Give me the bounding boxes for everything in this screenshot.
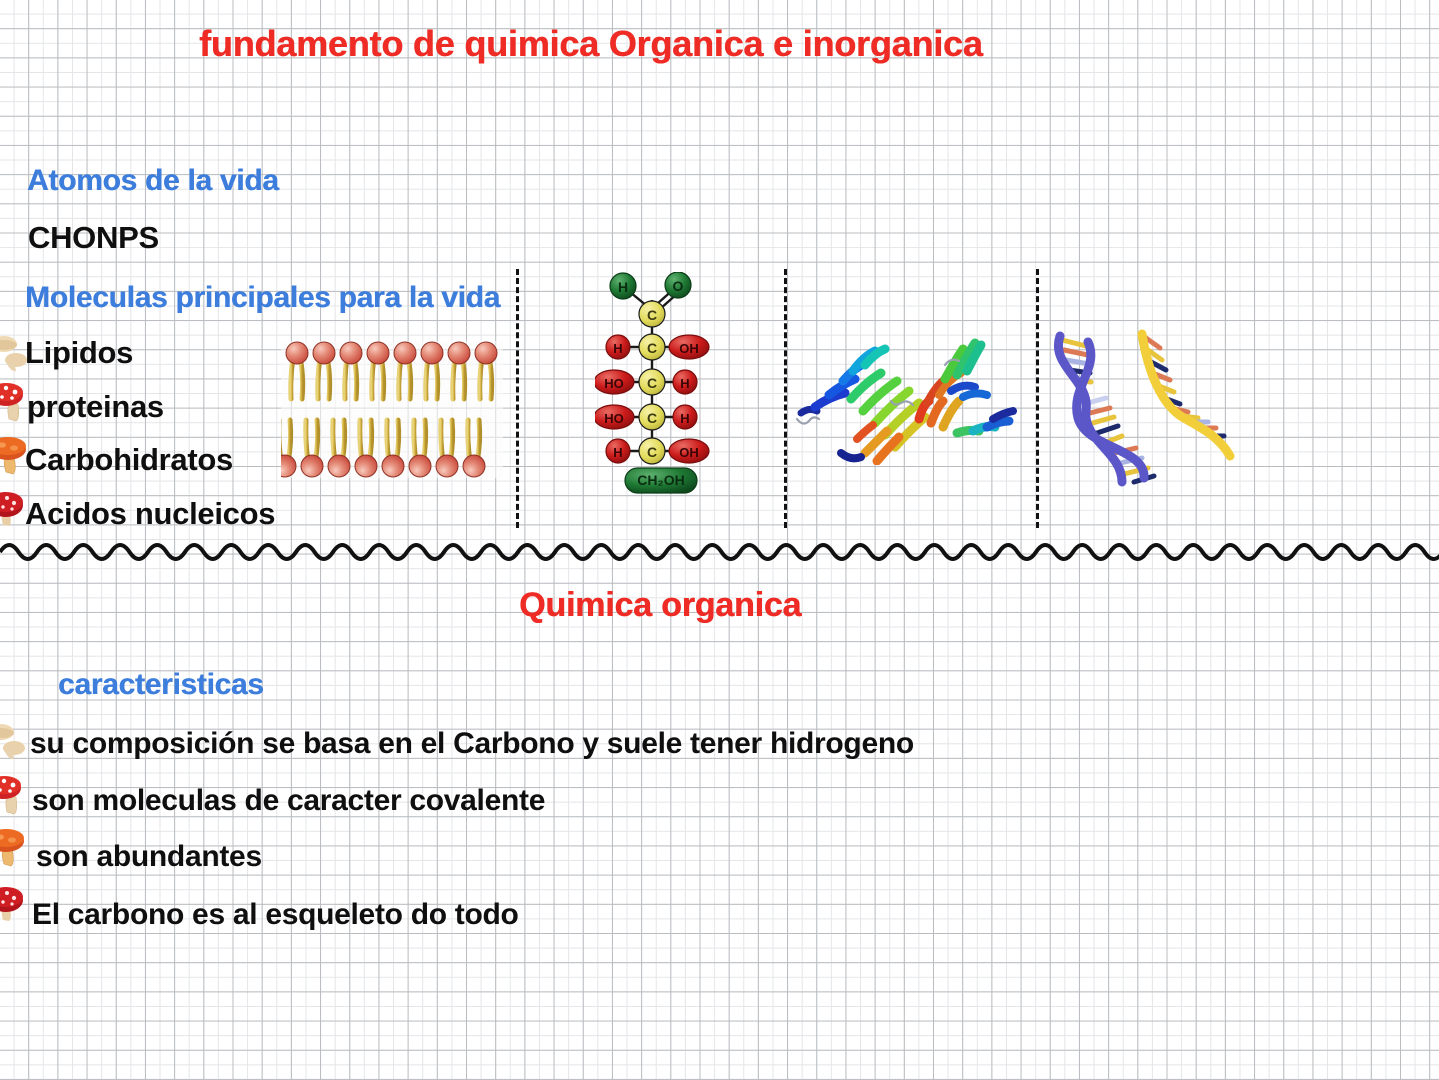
mushroom-bullet-icon bbox=[0, 489, 22, 529]
mushroom-bullet-icon bbox=[0, 826, 22, 866]
svg-text:HO: HO bbox=[604, 411, 624, 426]
dna-rna-illustration bbox=[1044, 318, 1249, 493]
svg-text:H: H bbox=[680, 376, 689, 391]
svg-text:H: H bbox=[680, 411, 689, 426]
svg-text:C: C bbox=[647, 340, 657, 356]
notes-canvas: fundamento de quimica Organica e inorgan… bbox=[0, 0, 1439, 1080]
mushroom-bullet-icon bbox=[0, 379, 24, 419]
phospholipid-bilayer-illustration bbox=[281, 341, 503, 478]
svg-text:O: O bbox=[673, 278, 684, 294]
svg-text:H: H bbox=[618, 279, 628, 295]
svg-text:C: C bbox=[647, 375, 657, 391]
heading-atoms-de-la-vida: Atomos de la vida bbox=[27, 164, 279, 198]
column-separator-3 bbox=[1036, 269, 1039, 528]
svg-text:H: H bbox=[613, 445, 622, 460]
protein-ribbon-illustration bbox=[795, 335, 1020, 465]
svg-text:HO: HO bbox=[604, 376, 624, 391]
subheading-caracteristicas: caracteristicas bbox=[58, 668, 264, 702]
heading-moleculas-principales: Moleculas principales para la vida bbox=[25, 281, 500, 315]
mushroom-bullet-icon bbox=[0, 884, 22, 924]
page-title: fundamento de quimica Organica e inorgan… bbox=[199, 24, 983, 64]
molecule-item-lipidos: Lipidos bbox=[25, 336, 133, 370]
svg-text:C: C bbox=[647, 307, 657, 323]
svg-text:C: C bbox=[647, 410, 657, 426]
molecule-item-proteinas: proteinas bbox=[27, 390, 164, 424]
characteristic-item: son moleculas de caracter covalente bbox=[32, 784, 545, 818]
mushroom-bullet-icon bbox=[0, 722, 26, 762]
section-heading-quimica-organica: Quimica organica bbox=[519, 586, 801, 624]
characteristic-item: El carbono es al esqueleto do todo bbox=[32, 898, 519, 932]
mushroom-bullet-icon bbox=[0, 334, 28, 374]
fischer-projection-illustration: H O C H C OH HO C H HO C H bbox=[595, 272, 710, 497]
mushroom-bullet-icon bbox=[0, 772, 22, 812]
svg-text:CH₂OH: CH₂OH bbox=[637, 472, 684, 488]
column-separator-1 bbox=[516, 269, 519, 528]
column-separator-2 bbox=[784, 269, 787, 528]
characteristic-item: su composición se basa en el Carbono y s… bbox=[30, 727, 914, 761]
mushroom-bullet-icon bbox=[0, 434, 24, 474]
wavy-divider bbox=[0, 526, 1439, 566]
svg-text:OH: OH bbox=[679, 445, 699, 460]
svg-text:C: C bbox=[647, 444, 657, 460]
svg-text:OH: OH bbox=[679, 341, 699, 356]
molecule-item-carbohidratos: Carbohidratos bbox=[25, 443, 233, 477]
svg-text:H: H bbox=[613, 341, 622, 356]
characteristic-item: son abundantes bbox=[36, 840, 262, 874]
atoms-value-chonps: CHONPS bbox=[28, 221, 159, 255]
